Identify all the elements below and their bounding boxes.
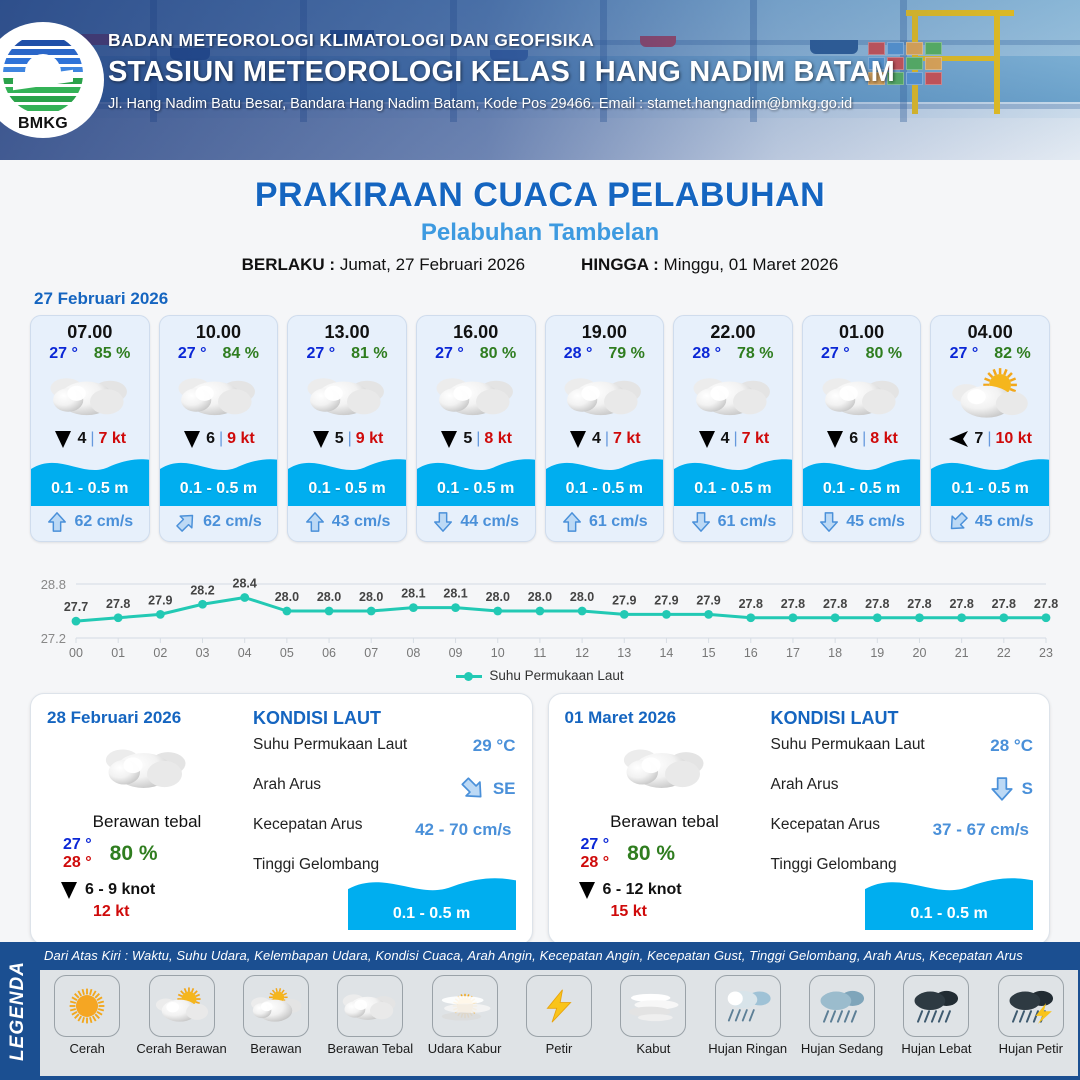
wind-direction-arrow-icon xyxy=(568,429,588,449)
card-wave-height: 0.1 - 0.5 m xyxy=(931,480,1049,498)
svg-text:28.0: 28.0 xyxy=(317,590,341,604)
page-title: PRAKIRAAN CUACA PELABUHAN xyxy=(0,176,1080,215)
legend-item: Hujan Lebat xyxy=(890,975,982,1056)
card-current-speed: 61 cm/s xyxy=(589,513,648,531)
card-gust: 7 kt xyxy=(99,430,127,448)
svg-text:28.0: 28.0 xyxy=(570,590,594,604)
panel-row-label: Suhu Permukaan Laut xyxy=(771,736,991,754)
card-separator: | xyxy=(348,430,352,448)
panel-sst-value: 29 °C xyxy=(473,736,516,756)
svg-text:28.0: 28.0 xyxy=(359,590,383,604)
card-wind-speed: 5 xyxy=(463,430,472,448)
wind-direction-arrow-icon xyxy=(439,429,459,449)
current-direction-arrow-icon xyxy=(460,776,486,802)
card-current-speed: 61 cm/s xyxy=(718,513,777,531)
svg-text:27.8: 27.8 xyxy=(106,597,130,611)
card-current-speed: 45 cm/s xyxy=(846,513,905,531)
hourly-card: 13.0027 °81 %5|9 kt0.1 - 0.5 m43 cm/s xyxy=(287,315,407,542)
svg-text:27.2: 27.2 xyxy=(41,631,66,646)
legend-caption: Dari Atas Kiri : Waktu, Suhu Udara, Kele… xyxy=(44,948,1023,963)
legend-bar: LEGENDA Dari Atas Kiri : Waktu, Suhu Uda… xyxy=(0,942,1080,1080)
berawan-tebal-icon xyxy=(31,365,149,425)
svg-text:07: 07 xyxy=(364,646,378,660)
daily-forecast-panel: 01 Maret 2026Berawan tebal27 °28 °80 %6 … xyxy=(548,693,1051,945)
kabut-icon xyxy=(620,975,686,1037)
hourly-card: 04.0027 °82 %7|10 kt0.1 - 0.5 m45 cm/s xyxy=(930,315,1050,542)
valid-from-value: Jumat, 27 Februari 2026 xyxy=(340,255,525,274)
wind-direction-arrow-icon xyxy=(182,429,202,449)
svg-text:27.9: 27.9 xyxy=(148,593,172,607)
legend-item-label: Hujan Petir xyxy=(985,1041,1077,1056)
legend-item-label: Berawan Tebal xyxy=(324,1041,416,1056)
panel-condition: Berawan tebal xyxy=(565,812,765,832)
svg-text:28.4: 28.4 xyxy=(233,577,257,591)
card-temperature: 28 ° xyxy=(692,345,721,363)
svg-text:28.2: 28.2 xyxy=(190,583,214,597)
panel-humidity: 80 % xyxy=(627,842,675,866)
panel-temp-min: 27 ° xyxy=(63,836,92,854)
legend-item-label: Petir xyxy=(513,1041,605,1056)
card-wave-band: 0.1 - 0.5 m xyxy=(803,450,921,506)
panel-humidity: 80 % xyxy=(110,842,158,866)
card-wave-band: 0.1 - 0.5 m xyxy=(417,450,535,506)
card-time: 01.00 xyxy=(803,316,921,344)
card-time: 07.00 xyxy=(31,316,149,344)
chart-legend-label: Suhu Permukaan Laut xyxy=(489,668,623,683)
panel-current-speed: 37 - 67 cm/s xyxy=(933,820,1029,840)
card-separator: | xyxy=(90,430,94,448)
svg-text:27.8: 27.8 xyxy=(992,597,1016,611)
svg-text:20: 20 xyxy=(913,646,927,660)
card-time: 16.00 xyxy=(417,316,535,344)
card-temperature: 27 ° xyxy=(178,345,207,363)
card-current-speed: 43 cm/s xyxy=(332,513,391,531)
svg-text:08: 08 xyxy=(406,646,420,660)
card-humidity: 85 % xyxy=(94,345,130,363)
berawan-tebal-icon xyxy=(160,365,278,425)
legend-item: Cerah xyxy=(41,975,133,1056)
card-wind-speed: 6 xyxy=(849,430,858,448)
legend-item-label: Berawan xyxy=(230,1041,322,1056)
card-wave-band: 0.1 - 0.5 m xyxy=(931,450,1049,506)
svg-text:16: 16 xyxy=(744,646,758,660)
svg-text:28.0: 28.0 xyxy=(275,590,299,604)
card-wave-band: 0.1 - 0.5 m xyxy=(546,450,664,506)
card-time: 04.00 xyxy=(931,316,1049,344)
card-temperature: 28 ° xyxy=(564,345,593,363)
svg-text:28.0: 28.0 xyxy=(486,590,510,604)
svg-text:27.8: 27.8 xyxy=(865,597,889,611)
panel-date: 01 Maret 2026 xyxy=(565,708,765,728)
card-current-speed: 62 cm/s xyxy=(74,513,133,531)
legend-item-label: Cerah Berawan xyxy=(136,1041,228,1056)
svg-text:09: 09 xyxy=(449,646,463,660)
card-wind-speed: 7 xyxy=(974,430,983,448)
card-temperature: 27 ° xyxy=(307,345,336,363)
svg-text:15: 15 xyxy=(702,646,716,660)
card-humidity: 80 % xyxy=(866,345,902,363)
panel-current-speed: 42 - 70 cm/s xyxy=(415,820,511,840)
panel-row-label: Suhu Permukaan Laut xyxy=(253,736,473,754)
svg-text:27.8: 27.8 xyxy=(781,597,805,611)
petir-icon xyxy=(526,975,592,1037)
legend-item-label: Udara Kabur xyxy=(419,1041,511,1056)
card-wind-speed: 6 xyxy=(206,430,215,448)
card-current-speed: 44 cm/s xyxy=(460,513,519,531)
wind-direction-arrow-icon xyxy=(53,429,73,449)
panel-current-direction: SE xyxy=(493,779,516,799)
hourly-card: 07.0027 °85 %4|7 kt0.1 - 0.5 m62 cm/s xyxy=(30,315,150,542)
card-wave-height: 0.1 - 0.5 m xyxy=(674,480,792,498)
legend-item-label: Hujan Ringan xyxy=(702,1041,794,1056)
svg-text:21: 21 xyxy=(955,646,969,660)
card-wave-height: 0.1 - 0.5 m xyxy=(803,480,921,498)
card-current-speed: 62 cm/s xyxy=(203,513,262,531)
card-wave-height: 0.1 - 0.5 m xyxy=(288,480,406,498)
panel-row-label: Arah Arus xyxy=(771,776,989,794)
card-temperature: 27 ° xyxy=(49,345,78,363)
card-wave-height: 0.1 - 0.5 m xyxy=(31,480,149,498)
card-gust: 9 kt xyxy=(356,430,384,448)
sst-chart: 28.827.200010203040506070809101112131415… xyxy=(20,556,1060,666)
legend-item-label: Cerah xyxy=(41,1041,133,1056)
svg-text:04: 04 xyxy=(238,646,252,660)
daily-forecast-panel: 28 Februari 2026Berawan tebal27 °28 °80 … xyxy=(30,693,533,945)
legend-side-title: LEGENDA xyxy=(0,942,36,1080)
card-separator: | xyxy=(605,430,609,448)
card-current-speed: 45 cm/s xyxy=(975,513,1034,531)
hujan-ringan-icon xyxy=(715,975,781,1037)
card-separator: | xyxy=(862,430,866,448)
legend-item: Petir xyxy=(513,975,605,1056)
legend-item: Berawan Tebal xyxy=(324,975,416,1056)
card-wave-height: 0.1 - 0.5 m xyxy=(160,480,278,498)
panel-gust: 15 kt xyxy=(565,903,765,921)
panel-gust: 12 kt xyxy=(47,903,247,921)
card-temperature: 27 ° xyxy=(435,345,464,363)
port-name: Pelabuhan Tambelan xyxy=(0,219,1080,247)
chart-legend-marker-icon xyxy=(456,672,482,680)
hujan-petir-icon xyxy=(998,975,1064,1037)
card-wind-speed: 4 xyxy=(592,430,601,448)
card-separator: | xyxy=(734,430,738,448)
wind-direction-arrow-icon xyxy=(577,880,597,900)
card-gust: 8 kt xyxy=(484,430,512,448)
wind-direction-arrow-icon xyxy=(59,880,79,900)
legend-item: Hujan Ringan xyxy=(702,975,794,1056)
card-time: 22.00 xyxy=(674,316,792,344)
panel-wave-height: 0.1 - 0.5 m xyxy=(348,905,516,923)
card-time: 19.00 xyxy=(546,316,664,344)
current-direction-arrow-icon xyxy=(818,511,840,533)
panel-wind-range: 6 - 9 knot xyxy=(85,881,155,899)
hourly-forecast-row: 07.0027 °85 %4|7 kt0.1 - 0.5 m62 cm/s10.… xyxy=(0,315,1080,542)
card-wave-height: 0.1 - 0.5 m xyxy=(546,480,664,498)
legend-item-label: Kabut xyxy=(607,1041,699,1056)
svg-text:27.8: 27.8 xyxy=(949,597,973,611)
legend-item-label: Hujan Lebat xyxy=(890,1041,982,1056)
card-wind-speed: 4 xyxy=(721,430,730,448)
svg-text:00: 00 xyxy=(69,646,83,660)
card-humidity: 78 % xyxy=(737,345,773,363)
hujan-lebat-icon xyxy=(903,975,969,1037)
svg-text:12: 12 xyxy=(575,646,589,660)
card-humidity: 82 % xyxy=(994,345,1030,363)
svg-text:27.8: 27.8 xyxy=(907,597,931,611)
hourly-card: 16.0027 °80 %5|8 kt0.1 - 0.5 m44 cm/s xyxy=(416,315,536,542)
panel-sst-value: 28 °C xyxy=(990,736,1033,756)
wind-direction-arrow-icon xyxy=(948,429,970,449)
current-direction-arrow-icon xyxy=(947,511,969,533)
legend-item: Kabut xyxy=(607,975,699,1056)
card-wind-speed: 5 xyxy=(335,430,344,448)
current-direction-arrow-icon xyxy=(989,776,1015,802)
valid-until: HINGGA : Minggu, 01 Maret 2026 xyxy=(581,255,838,275)
svg-text:19: 19 xyxy=(870,646,884,660)
validity-row: BERLAKU : Jumat, 27 Februari 2026 HINGGA… xyxy=(0,255,1080,275)
current-direction-arrow-icon xyxy=(690,511,712,533)
panel-current-direction: S xyxy=(1022,779,1033,799)
legend-side-title-text: LEGENDA xyxy=(7,961,29,1061)
card-gust: 7 kt xyxy=(613,430,641,448)
hourly-date-label: 27 Februari 2026 xyxy=(34,289,1080,309)
card-gust: 8 kt xyxy=(870,430,898,448)
bmkg-logo-text: BMKG xyxy=(0,115,86,133)
card-wind-speed: 4 xyxy=(77,430,86,448)
svg-text:01: 01 xyxy=(111,646,125,660)
svg-text:27.9: 27.9 xyxy=(654,593,678,607)
card-time: 13.00 xyxy=(288,316,406,344)
berawan-tebal-icon xyxy=(674,365,792,425)
berawan-tebal-icon xyxy=(288,365,406,425)
panel-temp-max: 28 ° xyxy=(581,854,610,872)
svg-text:28.0: 28.0 xyxy=(528,590,552,604)
legend-item: Cerah Berawan xyxy=(136,975,228,1056)
svg-text:27.9: 27.9 xyxy=(696,593,720,607)
valid-from-label: BERLAKU : xyxy=(242,255,336,274)
panel-date: 28 Februari 2026 xyxy=(47,708,247,728)
svg-text:28.8: 28.8 xyxy=(41,577,66,592)
svg-text:17: 17 xyxy=(786,646,800,660)
berawan-tebal-icon xyxy=(546,365,664,425)
bmkg-logo-circle xyxy=(3,34,83,114)
station-address: Jl. Hang Nadim Batu Besar, Bandara Hang … xyxy=(108,96,1038,112)
wind-direction-arrow-icon xyxy=(697,429,717,449)
sst-chart-svg: 28.827.200010203040506070809101112131415… xyxy=(20,556,1060,666)
hourly-card: 10.0027 °84 %6|9 kt0.1 - 0.5 m62 cm/s xyxy=(159,315,279,542)
card-gust: 10 kt xyxy=(995,430,1031,448)
svg-text:06: 06 xyxy=(322,646,336,660)
berawan-tebal-icon xyxy=(337,975,403,1037)
card-separator: | xyxy=(219,430,223,448)
card-separator: | xyxy=(987,430,991,448)
hujan-sedang-icon xyxy=(809,975,875,1037)
svg-text:23: 23 xyxy=(1039,646,1053,660)
panel-row-label: Arah Arus xyxy=(253,776,460,794)
panel-wave-height: 0.1 - 0.5 m xyxy=(865,905,1033,923)
card-wave-height: 0.1 - 0.5 m xyxy=(417,480,535,498)
card-separator: | xyxy=(476,430,480,448)
cerah-berawan-icon xyxy=(931,365,1049,425)
cerah-icon xyxy=(54,975,120,1037)
valid-from: BERLAKU : Jumat, 27 Februari 2026 xyxy=(242,255,525,275)
card-wave-band: 0.1 - 0.5 m xyxy=(31,450,149,506)
legend-items-row: CerahCerah BerawanBerawanBerawan TebalUd… xyxy=(40,970,1078,1076)
chart-legend: Suhu Permukaan Laut xyxy=(0,668,1080,683)
svg-text:27.9: 27.9 xyxy=(612,593,636,607)
daily-forecast-panels: 28 Februari 2026Berawan tebal27 °28 °80 … xyxy=(0,683,1080,945)
svg-text:11: 11 xyxy=(533,646,546,660)
svg-text:22: 22 xyxy=(997,646,1011,660)
card-humidity: 79 % xyxy=(608,345,644,363)
udara-kabur-icon xyxy=(432,975,498,1037)
svg-text:18: 18 xyxy=(828,646,842,660)
svg-text:27.8: 27.8 xyxy=(1034,597,1058,611)
hourly-card: 22.0028 °78 %4|7 kt0.1 - 0.5 m61 cm/s xyxy=(673,315,793,542)
wind-direction-arrow-icon xyxy=(311,429,331,449)
berawan-tebal-icon xyxy=(803,365,921,425)
panel-wind-range: 6 - 12 knot xyxy=(603,881,682,899)
card-gust: 9 kt xyxy=(227,430,255,448)
card-time: 10.00 xyxy=(160,316,278,344)
forecast-title-block: PRAKIRAAN CUACA PELABUHAN Pelabuhan Tamb… xyxy=(0,176,1080,275)
svg-text:28.1: 28.1 xyxy=(443,587,467,601)
svg-text:27.8: 27.8 xyxy=(739,597,763,611)
legend-item: Berawan xyxy=(230,975,322,1056)
valid-until-value: Minggu, 01 Maret 2026 xyxy=(664,255,839,274)
hourly-card: 19.0028 °79 %4|7 kt0.1 - 0.5 m61 cm/s xyxy=(545,315,665,542)
page-header: BMKG BADAN METEOROLOGI KLIMATOLOGI DAN G… xyxy=(0,0,1080,160)
card-gust: 7 kt xyxy=(742,430,770,448)
panel-section-title: KONDISI LAUT xyxy=(253,708,516,729)
cerah-berawan-icon xyxy=(149,975,215,1037)
svg-text:05: 05 xyxy=(280,646,294,660)
svg-text:14: 14 xyxy=(659,646,673,660)
legend-item: Hujan Sedang xyxy=(796,975,888,1056)
berawan-tebal-icon xyxy=(417,365,535,425)
berawan-tebal-icon xyxy=(47,736,247,798)
panel-condition: Berawan tebal xyxy=(47,812,247,832)
current-direction-arrow-icon xyxy=(175,511,197,533)
valid-until-label: HINGGA : xyxy=(581,255,659,274)
current-direction-arrow-icon xyxy=(432,511,454,533)
card-wave-band: 0.1 - 0.5 m xyxy=(288,450,406,506)
panel-section-title: KONDISI LAUT xyxy=(771,708,1034,729)
berawan-icon xyxy=(243,975,309,1037)
svg-text:13: 13 xyxy=(617,646,631,660)
panel-wave-band: 0.1 - 0.5 m xyxy=(348,868,516,930)
svg-text:27.8: 27.8 xyxy=(823,597,847,611)
legend-item-label: Hujan Sedang xyxy=(796,1041,888,1056)
svg-text:03: 03 xyxy=(196,646,210,660)
legend-item: Udara Kabur xyxy=(419,975,511,1056)
panel-wave-band: 0.1 - 0.5 m xyxy=(865,868,1033,930)
card-wave-band: 0.1 - 0.5 m xyxy=(160,450,278,506)
agency-name: BADAN METEOROLOGI KLIMATOLOGI DAN GEOFIS… xyxy=(108,30,1038,51)
current-direction-arrow-icon xyxy=(561,511,583,533)
hourly-card: 01.0027 °80 %6|8 kt0.1 - 0.5 m45 cm/s xyxy=(802,315,922,542)
card-temperature: 27 ° xyxy=(950,345,979,363)
current-direction-arrow-icon xyxy=(304,511,326,533)
berawan-tebal-icon xyxy=(565,736,765,798)
card-temperature: 27 ° xyxy=(821,345,850,363)
station-name: STASIUN METEOROLOGI KELAS I HANG NADIM B… xyxy=(108,56,1038,89)
panel-temp-min: 27 ° xyxy=(581,836,610,854)
panel-temp-max: 28 ° xyxy=(63,854,92,872)
legend-item: Hujan Petir xyxy=(985,975,1077,1056)
svg-text:27.7: 27.7 xyxy=(64,600,88,614)
current-direction-arrow-icon xyxy=(46,511,68,533)
card-humidity: 84 % xyxy=(223,345,259,363)
card-wave-band: 0.1 - 0.5 m xyxy=(674,450,792,506)
card-humidity: 80 % xyxy=(480,345,516,363)
wind-direction-arrow-icon xyxy=(825,429,845,449)
card-humidity: 81 % xyxy=(351,345,387,363)
svg-text:28.1: 28.1 xyxy=(401,587,425,601)
svg-text:10: 10 xyxy=(491,646,505,660)
svg-text:02: 02 xyxy=(153,646,167,660)
